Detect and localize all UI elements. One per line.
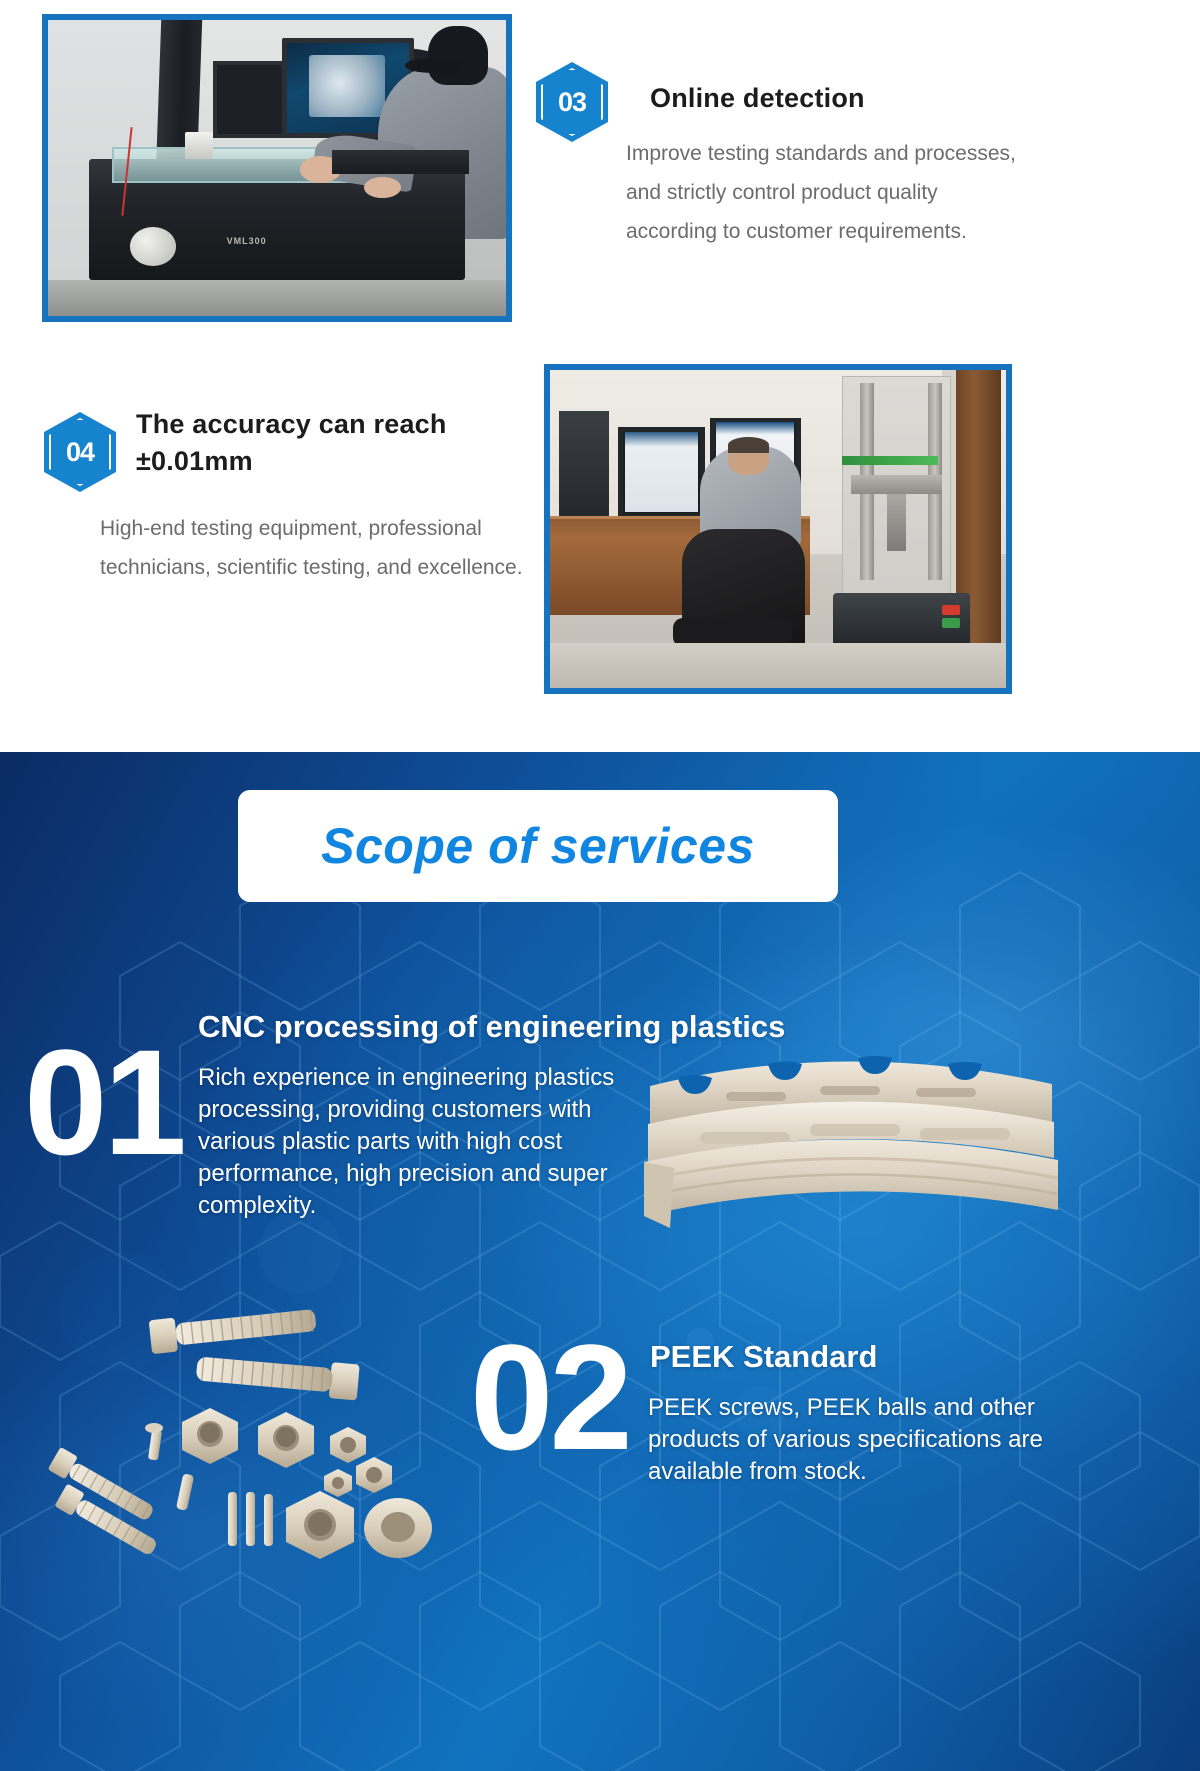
badge-number: 04 — [44, 412, 116, 492]
hexagon-pattern-icon — [0, 752, 1200, 1771]
badge-hex-03: 03 — [536, 62, 608, 142]
item-body-online-detection: Improve testing standards and processes,… — [626, 135, 1026, 252]
photo-online-detection: VML300 — [42, 14, 512, 322]
photo-tensile-tester — [544, 364, 1012, 694]
page-root: VML300 03 Online detection Improve testi… — [0, 0, 1200, 1771]
peek-chain-part-image — [640, 1028, 1060, 1258]
item-body-accuracy: High-end testing equipment, professional… — [100, 510, 530, 588]
page-title: Scope of services — [321, 817, 755, 875]
service-body-01: Rich experience in engineering plastics … — [198, 1062, 618, 1222]
top-white-section: VML300 03 Online detection Improve testi… — [0, 0, 1200, 850]
badge-number: 03 — [536, 62, 608, 142]
service-number-02: 02 — [470, 1322, 629, 1472]
scope-of-services-section — [0, 752, 1200, 1771]
item-title-online-detection: Online detection — [650, 80, 1070, 117]
service-number-01: 01 — [24, 1027, 183, 1177]
photo-caption: VML300 — [227, 236, 267, 246]
service-title-02: PEEK Standard — [650, 1338, 1110, 1375]
service-title-01: CNC processing of engineering plastics — [198, 1008, 958, 1045]
item-title-accuracy: The accuracy can reach ±0.01mm — [136, 406, 496, 481]
peek-bolts-nuts-image — [30, 1270, 480, 1560]
service-body-02: PEEK screws, PEEK balls and other produc… — [648, 1392, 1068, 1488]
badge-hex-04: 04 — [44, 412, 116, 492]
scope-of-services-title-card: Scope of services — [238, 790, 838, 902]
